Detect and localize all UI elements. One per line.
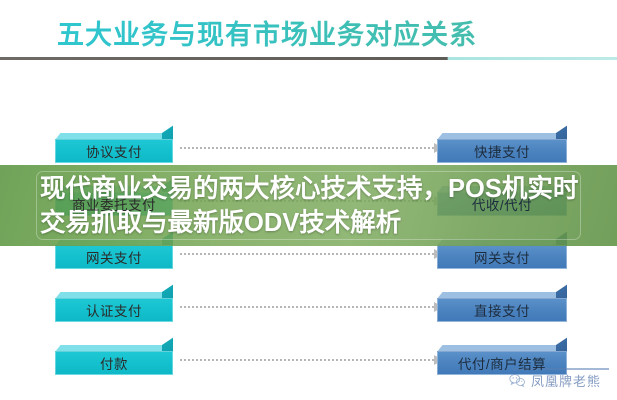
left-box-label: 付款 [100,347,128,373]
connector-line [180,359,434,361]
slide-canvas: 五大业务与现有市场业务对应关系 [0,0,617,400]
connector-line [180,306,434,308]
left-box-label: 商业委托支付 [72,188,156,214]
left-box-renzheng[interactable]: 认证支付 [55,292,173,322]
left-box-label: 网关支付 [86,241,142,267]
left-box-fukuan[interactable]: 付款 [55,345,173,375]
connector-arrow [180,306,443,308]
connector-line [180,147,434,149]
wechat-icon [509,373,526,388]
left-box-weituo[interactable]: 商业委托支付 [55,186,173,216]
page-title: 五大业务与现有市场业务对应关系 [57,13,477,52]
connector-line [180,253,434,255]
left-box-xieyi[interactable]: 协议支付 [55,133,173,163]
right-box-label: 代付/商户结算 [458,347,546,373]
right-box-label: 快捷支付 [474,135,530,161]
right-box-label: 网关支付 [474,241,530,267]
connector-arrow [180,147,443,149]
watermark: 凤凰牌老熊 [509,371,601,390]
connector-arrow [180,359,443,361]
right-box-label: 直接支付 [474,294,530,320]
watermark-label: 凤凰牌老熊 [531,371,601,390]
left-box-label: 认证支付 [86,294,142,320]
left-box-label: 协议支付 [86,135,142,161]
right-box-kuaijie[interactable]: 快捷支付 [437,133,567,163]
right-box-label: 代收/代付 [472,188,532,214]
connector-arrow [180,253,443,255]
right-box-zhijie[interactable]: 直接支付 [437,292,567,322]
